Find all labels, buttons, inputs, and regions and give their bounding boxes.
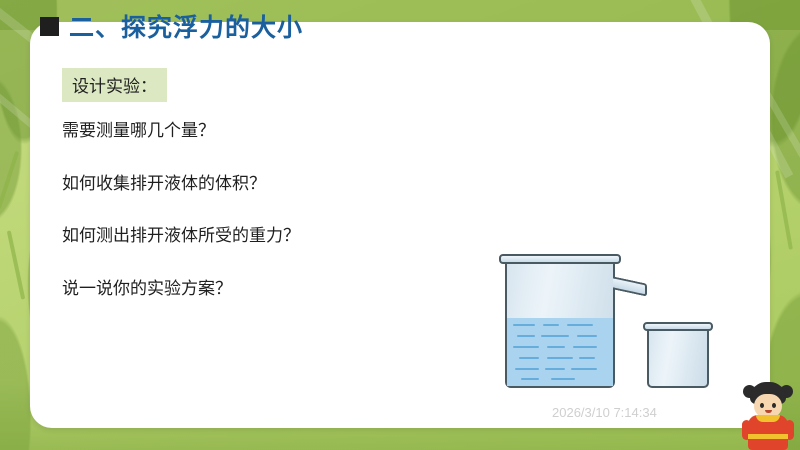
list-item: 需要测量哪几个量？ [62, 122, 562, 141]
mascot-belt [748, 434, 788, 439]
list-item: 如何测出排开液体所受的重力？ [62, 227, 562, 246]
big-beaker-rim [499, 254, 621, 264]
mascot-avatar [742, 382, 794, 450]
list-item: 如何收集排开液体的体积？ [62, 175, 562, 194]
question-list: 需要测量哪几个量？ 如何收集排开液体的体积？ 如何测出排开液体所受的重力？ 说一… [62, 122, 562, 333]
mascot-eye-right [772, 403, 776, 408]
mascot-collar [756, 415, 780, 422]
design-experiment-label: 设计实验： [62, 68, 167, 102]
small-beaker-rim [643, 322, 713, 331]
slide-canvas: 二、探究浮力的大小 设计实验： 需要测量哪几个量？ 如何收集排开液体的体积？ 如… [0, 0, 800, 450]
mascot-mouth [765, 410, 772, 413]
small-beaker-icon [647, 328, 709, 388]
overflow-beaker-illustration [495, 250, 725, 395]
overflow-spout-icon [613, 276, 647, 296]
big-beaker-icon [505, 260, 615, 388]
page-title-text: 二、探究浮力的大小 [69, 8, 303, 44]
mascot-eye-left [760, 403, 764, 408]
timestamp: 2026/3/10 7:14:34 [552, 405, 657, 420]
water-body [507, 318, 613, 386]
square-bullet-icon [40, 17, 59, 36]
page-title: 二、探究浮力的大小 [40, 8, 303, 44]
list-item: 说一说你的实验方案？ [62, 280, 562, 299]
